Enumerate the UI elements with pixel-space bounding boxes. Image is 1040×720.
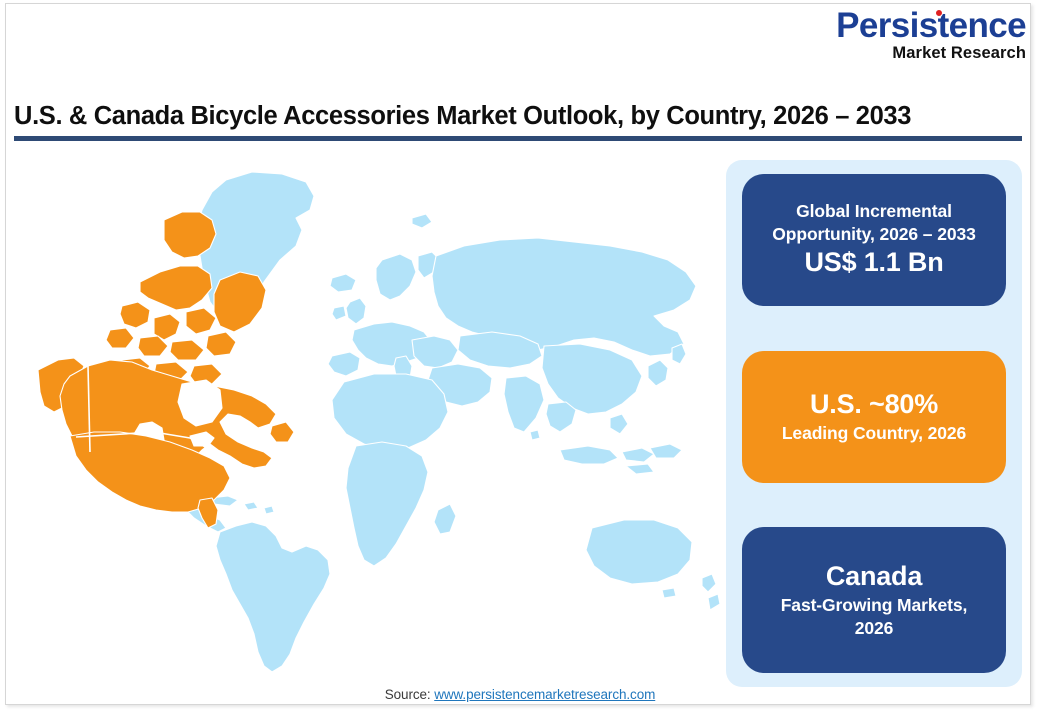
- card1-value: US$ 1.1 Bn: [804, 246, 943, 280]
- source-line: Source: www.persistencemarketresearch.co…: [0, 687, 1040, 702]
- source-label: Source:: [385, 687, 431, 702]
- brand-logo: Persistence Market Research: [836, 8, 1026, 62]
- world-map-svg: [14, 160, 720, 680]
- card2-line1: Leading Country, 2026: [782, 422, 966, 445]
- stat-card-fast-growing-market: Canada Fast-Growing Markets, 2026: [742, 527, 1006, 673]
- logo-brand-text: Persistence: [836, 8, 1026, 43]
- card1-line2: Opportunity, 2026 – 2033: [772, 223, 975, 246]
- card3-line2: 2026: [855, 617, 894, 640]
- source-url-link[interactable]: www.persistencemarketresearch.com: [434, 687, 655, 702]
- title-underline-rule: [14, 136, 1022, 141]
- map-base-regions: [134, 172, 720, 672]
- card2-value: U.S. ~80%: [810, 388, 938, 422]
- card3-value: Canada: [826, 560, 922, 594]
- stats-panel: Global Incremental Opportunity, 2026 – 2…: [726, 160, 1022, 687]
- card3-line1: Fast-Growing Markets,: [781, 594, 968, 617]
- stat-card-global-incremental-opportunity: Global Incremental Opportunity, 2026 – 2…: [742, 174, 1006, 306]
- logo-tagline-text: Market Research: [836, 45, 1026, 62]
- infographic-page: Persistence Market Research U.S. & Canad…: [0, 0, 1040, 720]
- card1-line1: Global Incremental: [796, 200, 952, 223]
- stat-card-leading-country: U.S. ~80% Leading Country, 2026: [742, 351, 1006, 483]
- title-block: U.S. & Canada Bicycle Accessories Market…: [14, 102, 1022, 141]
- page-title: U.S. & Canada Bicycle Accessories Market…: [14, 102, 1022, 131]
- world-map: [14, 160, 720, 680]
